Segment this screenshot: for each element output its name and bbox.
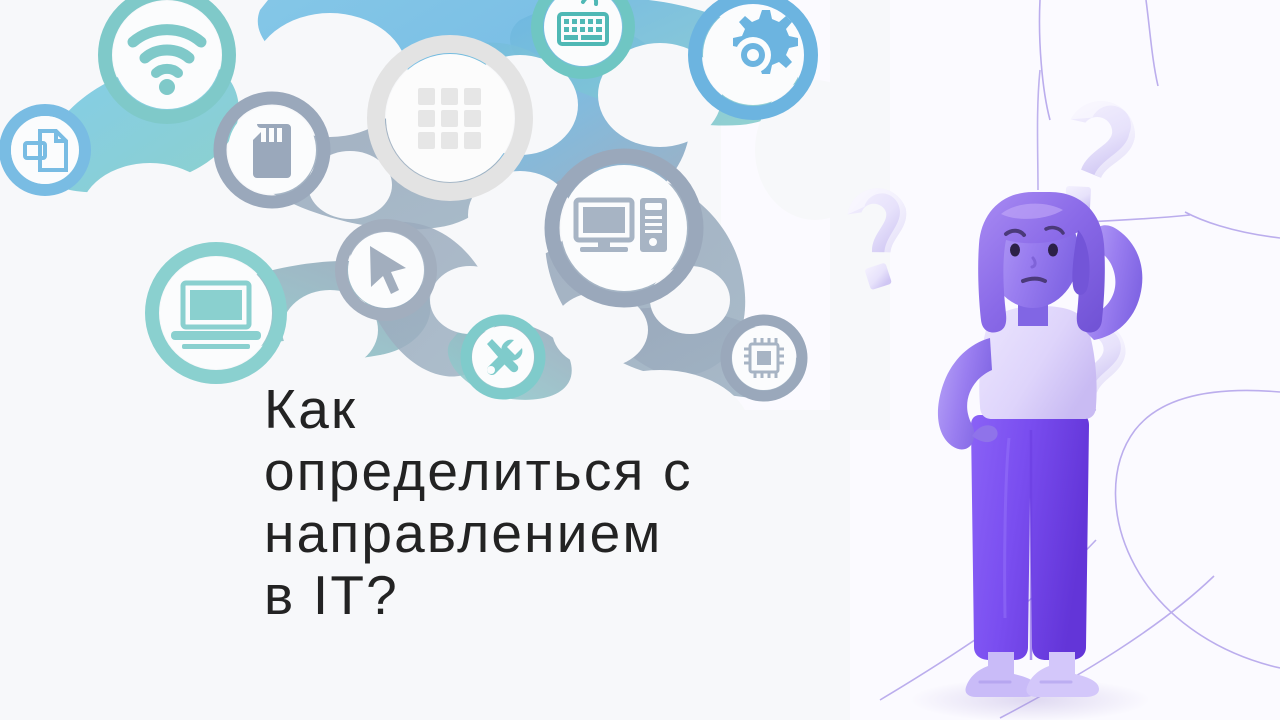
question-mark-left [843, 183, 920, 292]
character-illustration [0, 0, 1280, 720]
slide-canvas: Как определиться с направлением в IT? [0, 0, 1280, 720]
